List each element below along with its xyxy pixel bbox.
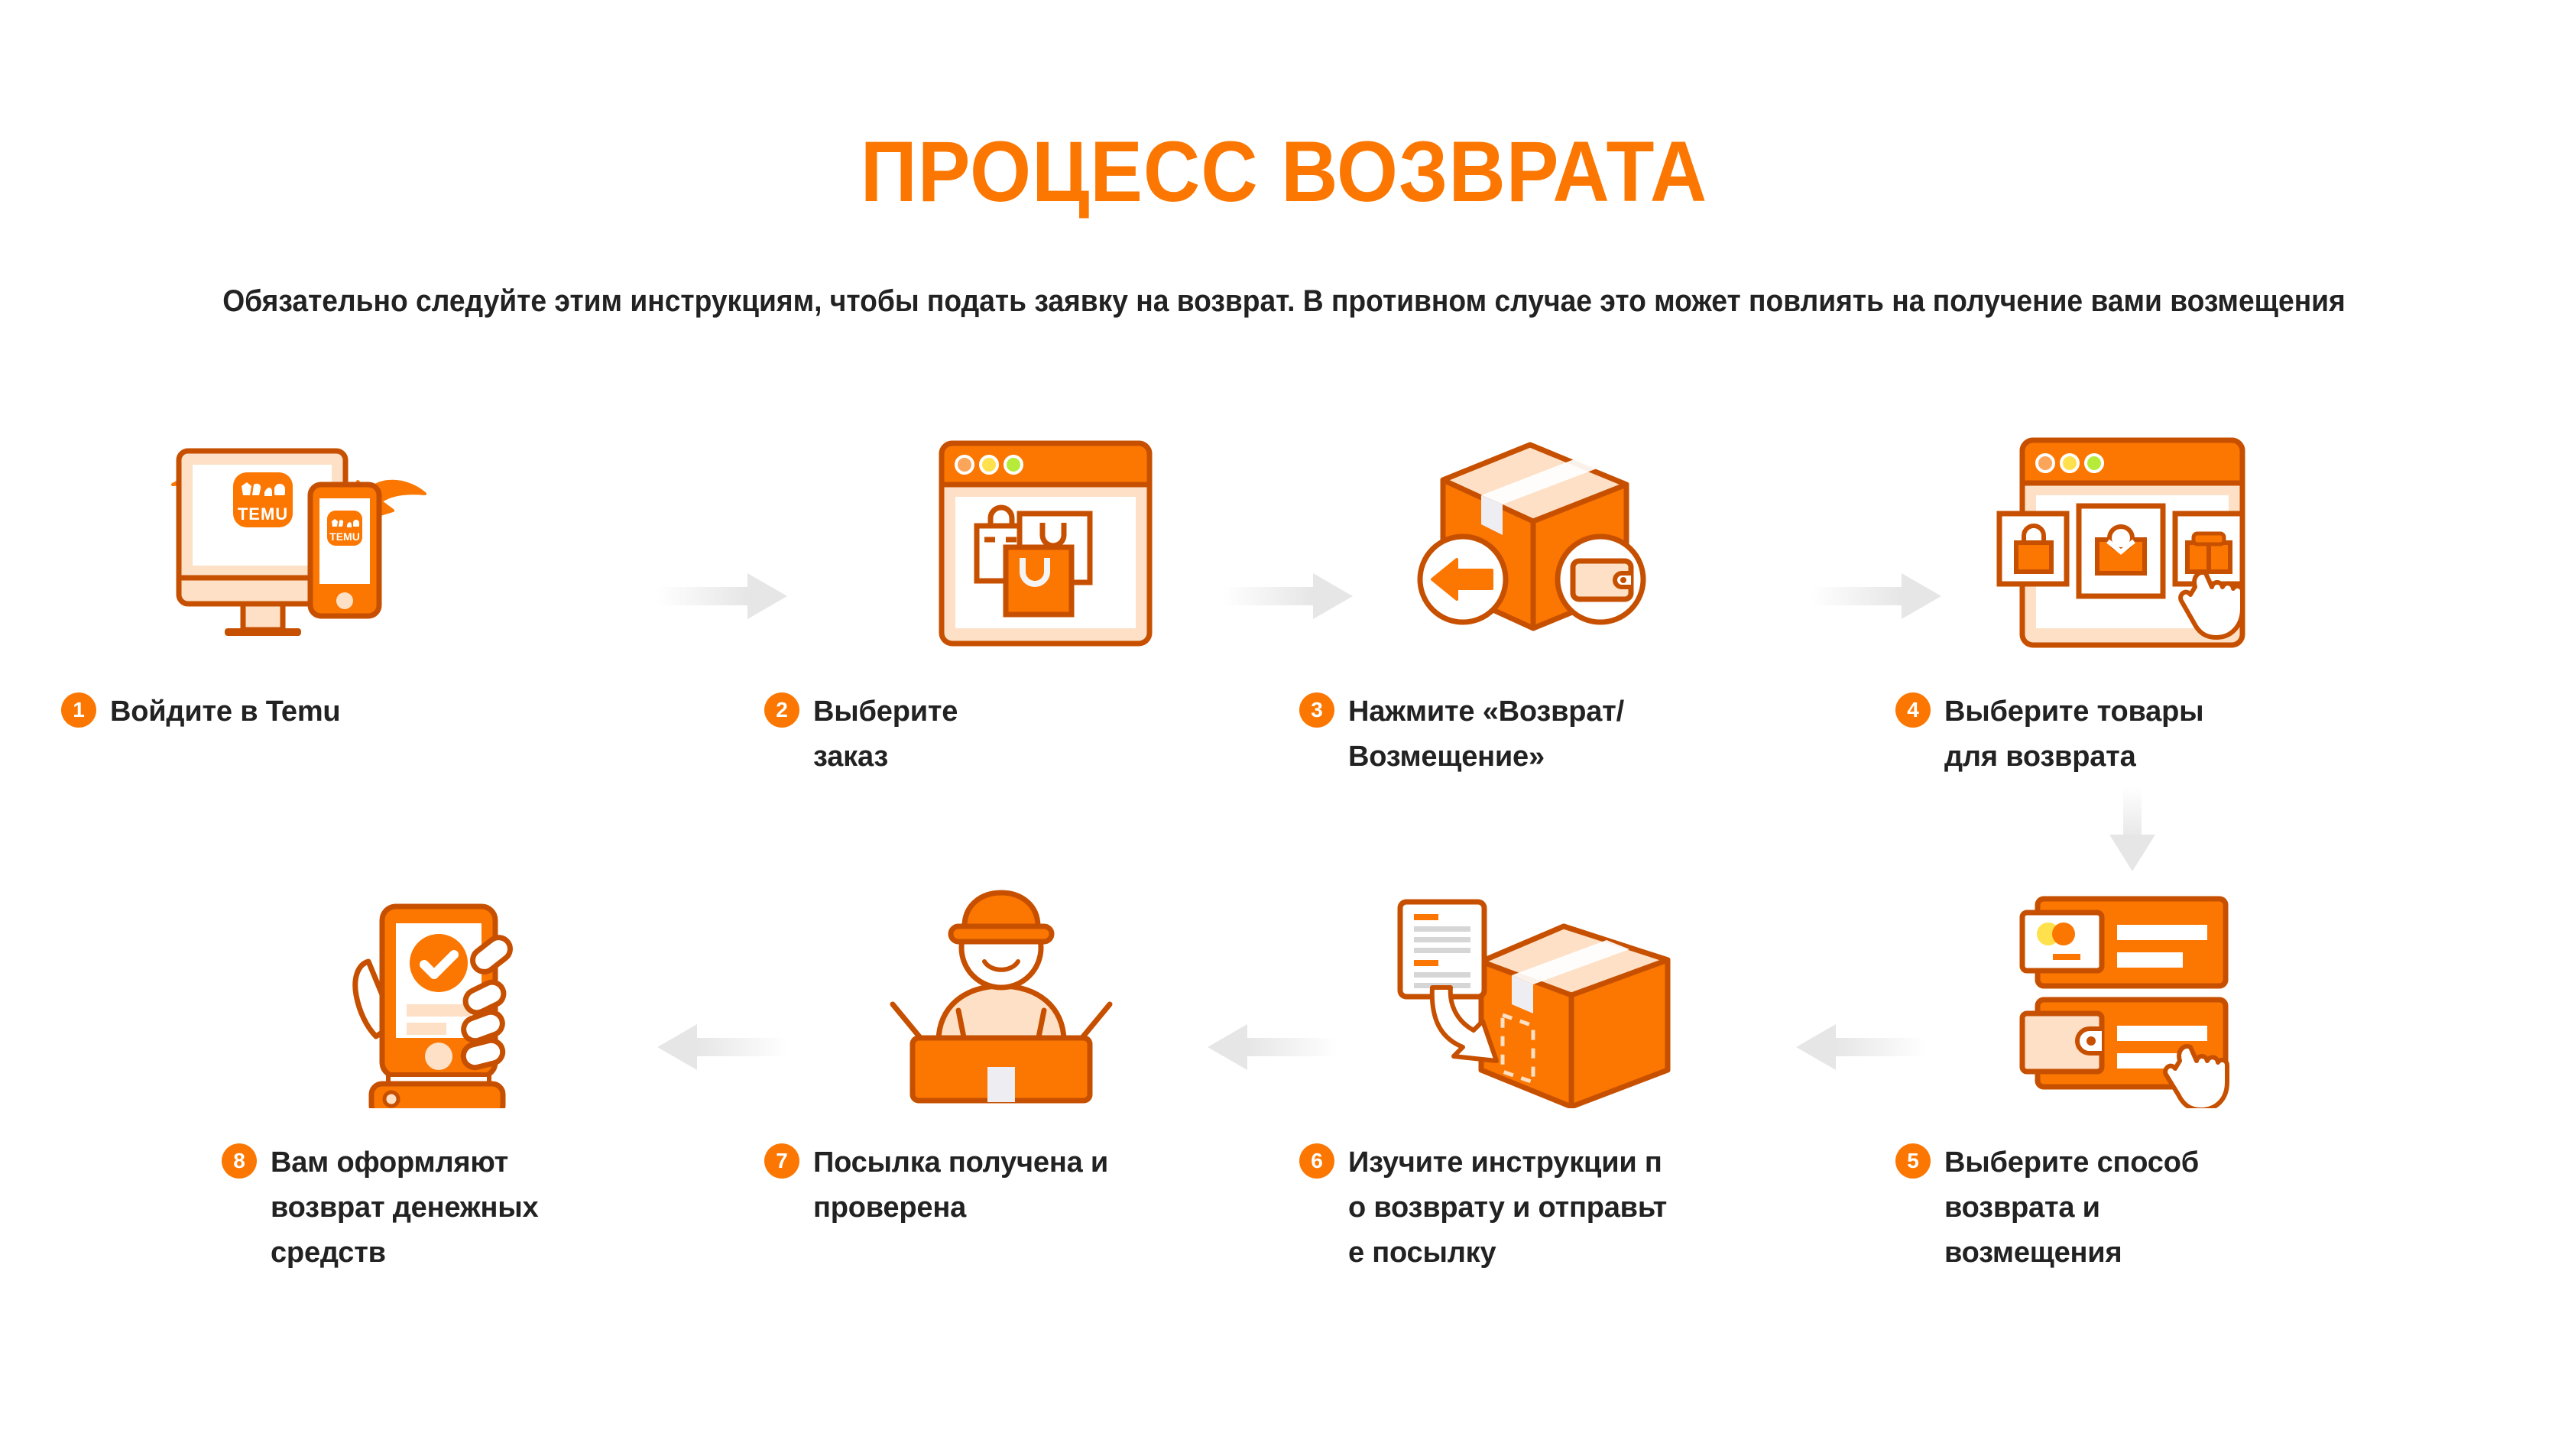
- hand-phone-checkmark-icon: [306, 879, 611, 1108]
- step-4-line-2: для возврата: [1944, 734, 2203, 780]
- browser-shopping-bags-icon: [848, 428, 1154, 657]
- step-4-line-1: Выберите товары: [1944, 689, 2203, 734]
- step-6-label: 6 Изучите инструкции п о возврату и отпр…: [1299, 1140, 1773, 1276]
- step-6-line-1: Изучите инструкции п: [1348, 1140, 1667, 1185]
- step-8-label: 8 Вам оформляют возврат денежных средств: [222, 1140, 695, 1276]
- step-7-text: Посылка получена и проверена: [813, 1140, 1108, 1231]
- step-7-label: 7 Посылка получена и проверена: [764, 1140, 1238, 1231]
- step-5-badge: 5: [1895, 1143, 1931, 1179]
- step-5: 5 Выберите способ возврата и возмещения: [1895, 879, 2369, 1276]
- worker-inspecting-box-icon: [848, 879, 1154, 1108]
- monitor-and-phone-temu-icon: TEMU TEMU: [145, 428, 451, 657]
- step-8-line-3: средств: [271, 1231, 538, 1276]
- step-1: TEMU TEMU: [61, 428, 535, 734]
- arrow-step4-to-step5: [2109, 787, 2155, 871]
- step-5-label: 5 Выберите способ возврата и возмещения: [1895, 1140, 2369, 1276]
- step-5-line-2: возврата и: [1944, 1185, 2199, 1231]
- step-1-text: Войдите в Temu: [110, 689, 340, 734]
- step-2-line-1: Выберите: [813, 689, 958, 734]
- step-3-line-1: Нажмите «Возврат/: [1348, 689, 1624, 734]
- step-1-badge: 1: [61, 692, 96, 728]
- return-process-infographic: ПРОЦЕСС ВОЗВРАТА Обязательно следуйте эт…: [0, 0, 2568, 1456]
- step-6-badge: 6: [1299, 1143, 1334, 1179]
- step-2-line-2: заказ: [813, 734, 958, 780]
- step-4-label: 4 Выберите товары для возврата: [1895, 689, 2369, 780]
- step-4: 4 Выберите товары для возврата: [1895, 428, 2369, 780]
- step-2-text: Выберите заказ: [813, 689, 958, 780]
- step-5-line-1: Выберите способ: [1944, 1140, 2199, 1185]
- step-7-badge: 7: [764, 1143, 799, 1179]
- step-4-text: Выберите товары для возврата: [1944, 689, 2203, 780]
- step-1-line-1: Войдите в Temu: [110, 689, 340, 734]
- steps-grid: TEMU TEMU: [0, 428, 2568, 1414]
- step-8-text: Вам оформляют возврат денежных средств: [271, 1140, 538, 1276]
- step-3-text: Нажмите «Возврат/ Возмещение»: [1348, 689, 1624, 780]
- step-6: 6 Изучите инструкции п о возврату и отпр…: [1299, 879, 1773, 1276]
- payment-methods-cursor-icon: [1979, 879, 2285, 1108]
- step-8-badge: 8: [222, 1143, 257, 1179]
- step-6-line-2: о возврату и отправьт: [1348, 1185, 1667, 1231]
- arrow-step5-to-step6: [1796, 1024, 1926, 1070]
- step-7-line-2: проверена: [813, 1185, 1108, 1231]
- step-3-label: 3 Нажмите «Возврат/ Возмещение»: [1299, 689, 1773, 780]
- page-title: ПРОЦЕСС ВОЗВРАТА: [102, 122, 2465, 221]
- step-5-line-3: возмещения: [1944, 1231, 2199, 1276]
- step-3-badge: 3: [1299, 692, 1334, 728]
- svg-text:TEMU: TEMU: [329, 530, 360, 543]
- step-2: 2 Выберите заказ: [764, 428, 1238, 780]
- label-into-box-icon: [1383, 879, 1689, 1108]
- step-8: 8 Вам оформляют возврат денежных средств: [222, 879, 695, 1276]
- step-1-label: 1 Войдите в Temu: [61, 689, 535, 734]
- step-6-text: Изучите инструкции п о возврату и отправ…: [1348, 1140, 1667, 1276]
- page-subtitle: Обязательно следуйте этим инструкциям, ч…: [33, 284, 2535, 319]
- step-7: 7 Посылка получена и проверена: [764, 879, 1238, 1231]
- svg-text:TEMU: TEMU: [238, 504, 288, 524]
- step-8-line-2: возврат денежных: [271, 1185, 538, 1231]
- step-8-line-1: Вам оформляют: [271, 1140, 538, 1185]
- step-5-text: Выберите способ возврата и возмещения: [1944, 1140, 2199, 1276]
- step-3-line-2: Возмещение»: [1348, 734, 1624, 780]
- step-7-line-1: Посылка получена и: [813, 1140, 1108, 1185]
- step-2-badge: 2: [764, 692, 799, 728]
- step-2-label: 2 Выберите заказ: [764, 689, 1238, 780]
- browser-product-cards-cursor-icon: [1979, 428, 2285, 657]
- step-6-line-3: е посылку: [1348, 1231, 1667, 1276]
- step-4-badge: 4: [1895, 692, 1931, 728]
- box-return-refund-icon: [1383, 428, 1689, 657]
- step-3: 3 Нажмите «Возврат/ Возмещение»: [1299, 428, 1773, 780]
